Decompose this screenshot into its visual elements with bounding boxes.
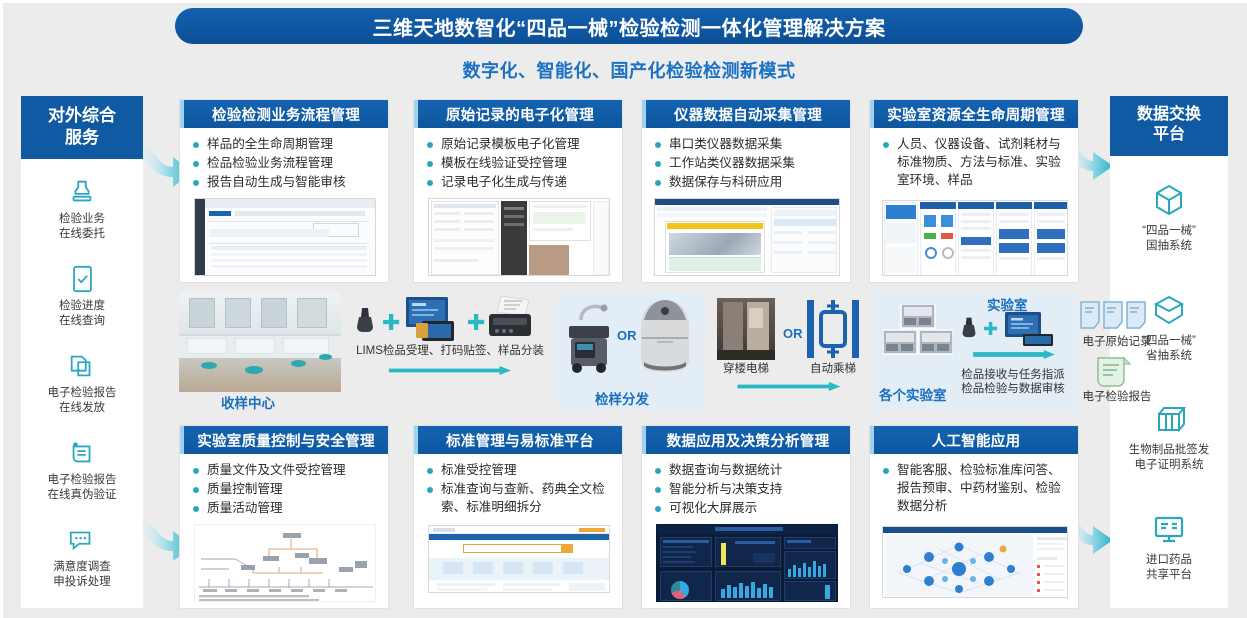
sidebar-item-label: 电子检验报告 在线真伪验证 [48, 473, 117, 503]
bullet-item: 工作站类仪器数据采集 [654, 155, 840, 173]
monitor-laptop-icon [1003, 312, 1055, 348]
card-title: 实验室质量控制与安全管理 [197, 430, 375, 451]
card-bullets: 标准受控管理 标准查询与查新、药典全文检索、标准明细拆分 [426, 462, 612, 517]
sidebar-item-imported-drug-platform[interactable]: 进口药品 共享平台 [1110, 508, 1228, 583]
e-report-icon [1094, 354, 1134, 390]
screenshot-ai-isometric-network [882, 526, 1068, 598]
card-data-decision[interactable]: 数据应用及决策分析管理 数据查询与数据统计 智能分析与决策支持 可视化大屏展示 [641, 425, 851, 609]
card-body: 人员、仪器设备、试剂耗材与标准物质、方法与标准、实验室环境、样品 [870, 128, 1078, 276]
card-electronic-records[interactable]: 原始记录的电子化管理 原始记录模板电子化管理 模板在线验证受控管理 记录电子化生… [413, 99, 623, 283]
card-bullets: 原始记录模板电子化管理 模板在线验证受控管理 记录电子化生成与传递 [426, 136, 612, 192]
flow-arrow-3 [955, 350, 1073, 359]
labs-thumbnails-icon [883, 304, 953, 360]
card-title: 实验室资源全生命周期管理 [887, 104, 1065, 125]
card-bullets: 串口类仪器数据采集 工作站类仪器数据采集 数据保存与科研应用 [654, 136, 840, 192]
documents-icon [67, 349, 97, 383]
stage4-labs-label: 各个实验室 [879, 384, 947, 404]
sidebar-item-report-issue[interactable]: 电子检验报告 在线发放 [21, 349, 143, 416]
sidebar-item-biologics-certificate[interactable]: 生物制品批签发 电子证明系统 [1110, 398, 1228, 473]
page-title: 三维天地数智化“四品一械”检验检测一体化管理解决方案 [373, 12, 886, 41]
bullet-item: 标准受控管理 [426, 462, 612, 480]
left-panel-title: 对外综合 服务 [21, 96, 143, 159]
flow-arrow-2 [709, 382, 869, 391]
stage1-caption: LIMS检品受理、打码贴签、样品分装 [352, 344, 548, 358]
card-lab-resources[interactable]: 实验室资源全生命周期管理 人员、仪器设备、试剂耗材与标准物质、方法与标准、实验室… [869, 99, 1079, 283]
card-body: 数据查询与数据统计 智能分析与决策支持 可视化大屏展示 [642, 454, 850, 602]
bullet-item: 标准查询与查新、药典全文检索、标准明细拆分 [426, 481, 612, 517]
card-bullets: 质量文件及文件受控管理 质量控制管理 质量活动管理 [192, 462, 378, 518]
card-header: 实验室质量控制与安全管理 [180, 426, 388, 454]
card-title: 标准管理与易标准平台 [446, 430, 594, 451]
sidebar-item-satisfaction-survey[interactable]: 满意度调查 申投诉处理 [21, 523, 143, 590]
card-header: 原始记录的电子化管理 [414, 100, 622, 128]
page-subtitle: 数字化、智能化、国产化检验检测新模式 [175, 57, 1083, 83]
sidebar-item-online-commission[interactable]: 检验业务 在线委托 [21, 175, 143, 242]
card-title: 人工智能应用 [932, 430, 1021, 451]
plus-icon: ✚ [983, 320, 998, 338]
card-header: 人工智能应用 [870, 426, 1078, 454]
boxes-icon [1150, 398, 1188, 440]
bullet-item: 原始记录模板电子化管理 [426, 136, 612, 154]
screenshot-standard-search-portal [428, 525, 610, 593]
card-body: 智能客服、检验标准库问答、报告预审、中药材鉴别、检验数据分析 [870, 454, 1078, 598]
card-bullets: 数据查询与数据统计 智能分析与决策支持 可视化大屏展示 [654, 462, 840, 518]
stage2-label: 检样分发 [595, 388, 649, 408]
card-title: 仪器数据自动采集管理 [674, 104, 822, 125]
bullet-item: 样品的全生命周期管理 [192, 136, 378, 154]
screenshot-chromatogram-capture [654, 198, 840, 276]
card-header: 检验检测业务流程管理 [180, 100, 388, 128]
bullet-item: 数据查询与数据统计 [654, 462, 840, 480]
stage3-right-caption: 自动乘梯 [805, 362, 861, 376]
or-label-1: OR [617, 328, 637, 343]
certificate-icon [67, 436, 97, 470]
delivery-robot-icon [635, 298, 695, 376]
cube-solid-icon [1151, 289, 1187, 331]
card-body: 标准受控管理 标准查询与查新、药典全文检索、标准明细拆分 [414, 454, 622, 593]
bullet-item: 质量活动管理 [192, 500, 378, 518]
e-records-icon [1079, 300, 1151, 332]
tablet-check-icon [69, 262, 96, 296]
card-quality-safety[interactable]: 实验室质量控制与安全管理 质量文件及文件受控管理 质量控制管理 质量活动管理 [179, 425, 389, 609]
card-body: 样品的全生命周期管理 检品检验业务流程管理 报告自动生成与智能审核 [180, 128, 388, 276]
sidebar-item-progress-query[interactable]: 检验进度 在线查询 [21, 262, 143, 329]
robot-arm-agv-icon [563, 300, 619, 374]
bullet-item: 报告自动生成与智能审核 [192, 174, 378, 192]
plus-icon: ✚ [467, 312, 485, 334]
card-ai-application[interactable]: 人工智能应用 智能客服、检验标准库问答、报告预审、中药材鉴别、检验数据分析 [869, 425, 1079, 609]
bullet-item: 串口类仪器数据采集 [654, 136, 840, 154]
card-bullets: 样品的全生命周期管理 检品检验业务流程管理 报告自动生成与智能审核 [192, 136, 378, 192]
card-title: 检验检测业务流程管理 [212, 104, 360, 125]
stage1-label: 收样中心 [221, 392, 275, 412]
card-header: 实验室资源全生命周期管理 [870, 100, 1078, 128]
bullet-item: 模板在线验证受控管理 [426, 155, 612, 173]
or-label-2: OR [783, 326, 803, 341]
sidebar-item-label: 满意度调查 申投诉处理 [53, 560, 111, 590]
screenshot-lims-workflow-table [194, 198, 376, 276]
scanner-icon [960, 316, 978, 342]
sidebar-item-report-verify[interactable]: 电子检验报告 在线真伪验证 [21, 436, 143, 503]
sidebar-item-label: “四品一械” 国抽系统 [1142, 224, 1196, 254]
monitor-tablet-icon [402, 297, 460, 341]
external-services-panel: 对外综合 服务 检验业务 在线委托 检验进度 在线查询 [21, 96, 143, 608]
card-body: 原始记录模板电子化管理 模板在线验证受控管理 记录电子化生成与传递 [414, 128, 622, 276]
bullet-item: 可视化大屏展示 [654, 500, 840, 518]
bullet-item: 检品检验业务流程管理 [192, 155, 378, 173]
stage4-caption: 检品接收与任务指派 检品检验与数据审核 [951, 368, 1075, 397]
sidebar-item-label: 检验进度 在线查询 [59, 299, 105, 329]
card-header: 仪器数据自动采集管理 [642, 100, 850, 128]
bullet-item: 数据保存与科研应用 [654, 174, 840, 192]
workflow-band: 收样中心 ✚ ✚ LIMS检品受理、打码贴签、样品分装 [179, 292, 1077, 410]
screenshot-record-template-pages [428, 198, 610, 276]
flow-arrow-1 [355, 366, 545, 375]
e-report-label: 电子检验报告 [1075, 390, 1159, 404]
card-bullets: 智能客服、检验标准库问答、报告预审、中药材鉴别、检验数据分析 [882, 462, 1068, 516]
sidebar-item-national-sampling[interactable]: “四品一械” 国抽系统 [1110, 179, 1228, 254]
sidebar-item-label: 检验业务 在线委托 [59, 212, 105, 242]
screenshot-quality-control-chart [194, 524, 376, 602]
stage3-left-caption: 穿楼电梯 [717, 362, 775, 376]
freight-elevator-photo [717, 298, 775, 360]
scanner-icon [354, 306, 376, 338]
bullet-item: 智能分析与决策支持 [654, 481, 840, 499]
sidebar-item-label: 生物制品批签发 电子证明系统 [1129, 443, 1210, 473]
monitor-icon [1151, 508, 1187, 550]
card-header: 标准管理与易标准平台 [414, 426, 622, 454]
page-title-banner: 三维天地数智化“四品一械”检验检测一体化管理解决方案 [175, 8, 1083, 44]
card-bullets: 人员、仪器设备、试剂耗材与标准物质、方法与标准、实验室环境、样品 [882, 136, 1068, 190]
label-printer-icon [485, 296, 537, 340]
card-body: 质量文件及文件受控管理 质量控制管理 质量活动管理 [180, 454, 388, 602]
card-title: 数据应用及决策分析管理 [667, 430, 830, 451]
chat-bubble-icon [66, 523, 98, 557]
sidebar-item-label: 电子检验报告 在线发放 [48, 386, 117, 416]
sidebar-item-label: 进口药品 共享平台 [1146, 553, 1192, 583]
bullet-item: 人员、仪器设备、试剂耗材与标准物质、方法与标准、实验室环境、样品 [882, 136, 1068, 190]
card-business-process[interactable]: 检验检测业务流程管理 样品的全生命周期管理 检品检验业务流程管理 报告自动生成与… [179, 99, 389, 283]
card-instrument-data[interactable]: 仪器数据自动采集管理 串口类仪器数据采集 工作站类仪器数据采集 数据保存与科研应… [641, 99, 851, 283]
right-panel-title: 数据交换 平台 [1110, 96, 1228, 156]
bullet-item: 质量控制管理 [192, 481, 378, 499]
bullet-item: 智能客服、检验标准库问答、报告预审、中药材鉴别、检验数据分析 [882, 462, 1068, 516]
card-header: 数据应用及决策分析管理 [642, 426, 850, 454]
e-records-label: 电子原始记录 [1075, 335, 1159, 349]
bullet-item: 质量文件及文件受控管理 [192, 462, 378, 480]
data-exchange-panel: 数据交换 平台 “四品一械” 国抽系统 “四品一械” 省抽系统 [1110, 96, 1228, 608]
card-title: 原始记录的电子化管理 [446, 104, 594, 125]
stamp-icon [67, 175, 97, 209]
screenshot-resource-dashboard-tiles [882, 200, 1068, 276]
bullet-item: 记录电子化生成与传递 [426, 174, 612, 192]
card-standards-platform[interactable]: 标准管理与易标准平台 标准受控管理 标准查询与查新、药典全文检索、标准明细拆分 [413, 425, 623, 609]
card-body: 串口类仪器数据采集 工作站类仪器数据采集 数据保存与科研应用 [642, 128, 850, 276]
elevator-icon [805, 298, 861, 360]
infographic-root: 三维天地数智化“四品一械”检验检测一体化管理解决方案 数字化、智能化、国产化检验… [0, 0, 1247, 618]
plus-icon: ✚ [382, 312, 400, 334]
sample-reception-room-photo [179, 292, 341, 392]
screenshot-bi-big-screen [656, 524, 838, 602]
stage4-lab-label: 实验室 [987, 294, 1028, 314]
left-panel-items: 检验业务 在线委托 检验进度 在线查询 电子检验报告 在线发放 [21, 159, 143, 609]
cube-wireframe-icon [1151, 179, 1187, 221]
